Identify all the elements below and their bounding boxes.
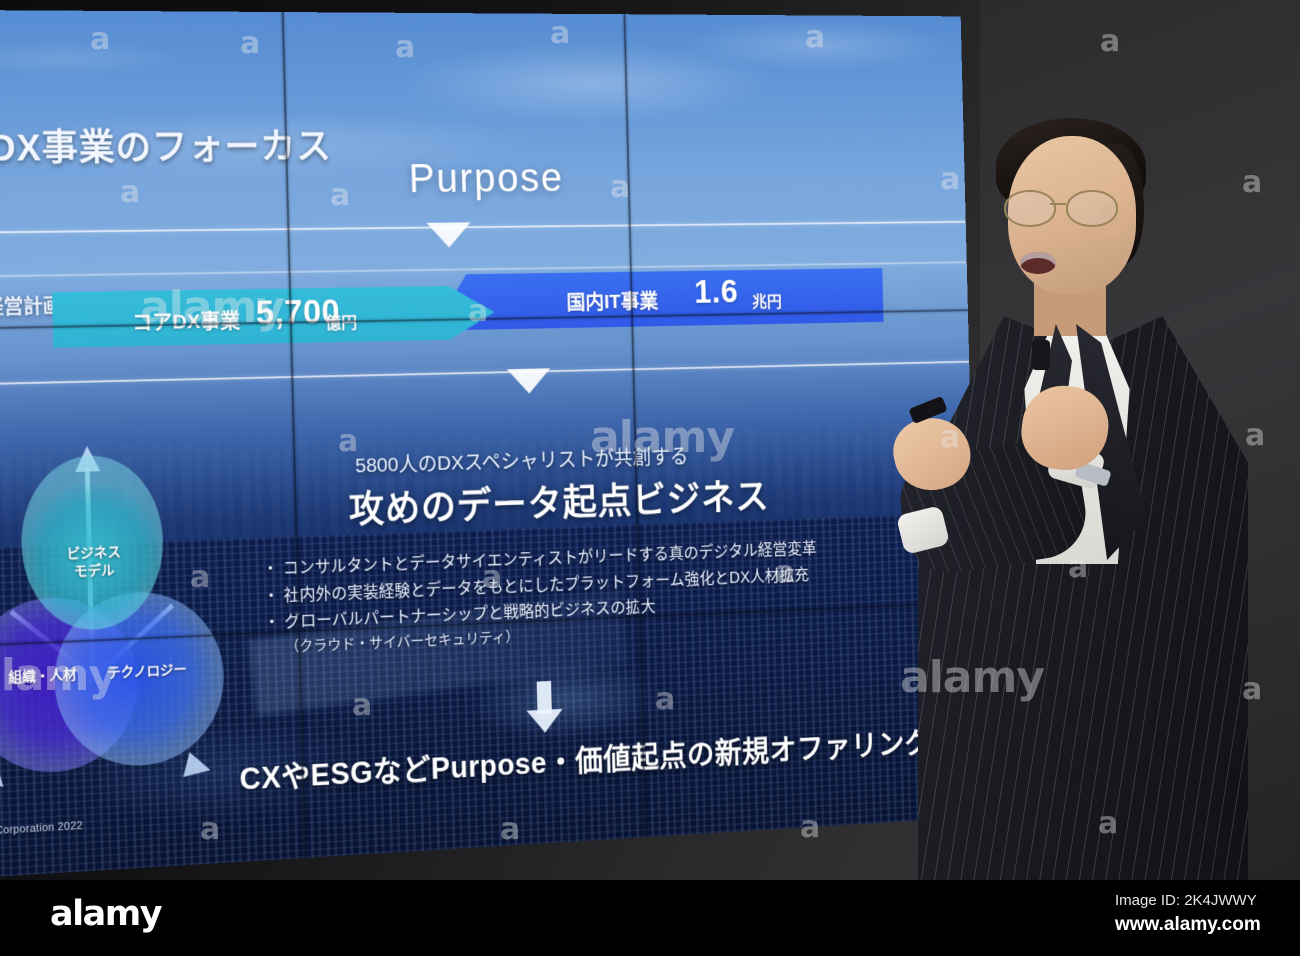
screenshot-root: コアDX事業のフォーカス Purpose 25中期経営計画 DX事業 国内IT事…	[0, 0, 1300, 956]
band-domestic-it-name: 国内IT事業	[566, 286, 658, 316]
presenter	[900, 118, 1300, 880]
band-core-dx-name: コアDX事業	[132, 305, 241, 336]
alamy-bottom-bar: alamy Image ID: 2K4JWWY www.alamy.com	[0, 880, 1300, 956]
divider-rule-low	[0, 361, 969, 386]
video-wall-screen: コアDX事業のフォーカス Purpose 25中期経営計画 DX事業 国内IT事…	[0, 10, 980, 880]
slide-title: コアDX事業のフォーカス	[0, 117, 332, 172]
band-domestic-it-number: 1.6	[694, 273, 739, 311]
venn-label-business-model: ビジネス モデル	[45, 543, 143, 581]
band-arrow-down	[507, 368, 551, 394]
slide-copyright: © NEC Corporation 2022	[0, 820, 83, 839]
alamy-logo: alamy	[50, 894, 161, 934]
venn-arrow-left-head	[0, 762, 4, 795]
purpose-heading: Purpose	[408, 155, 564, 202]
purpose-arrow-down	[427, 222, 472, 247]
alamy-url-label[interactable]: www.alamy.com	[1115, 914, 1261, 936]
slide-content: コアDX事業のフォーカス Purpose 25中期経営計画 DX事業 国内IT事…	[0, 10, 980, 880]
presenter-mouth	[1020, 252, 1056, 274]
glasses-icon	[1004, 190, 1120, 224]
video-wall: コアDX事業のフォーカス Purpose 25中期経営計画 DX事業 国内IT事…	[0, 10, 980, 880]
band-domestic-it-unit: 兆円	[752, 288, 782, 312]
venn-label-business-model-line2: モデル	[45, 560, 142, 581]
venn-arrow-right-head	[183, 752, 213, 783]
down-arrow-head	[527, 709, 564, 734]
venn-diagram: ビジネス モデル 組織・人材 テクノロジー	[0, 443, 219, 809]
divider-rule-top	[0, 221, 966, 234]
lapel-microphone-icon	[1032, 340, 1050, 370]
slide-bullet-list: ・ コンサルタントとデータサイエンティストがリードする真のデジタル経営変革 ・ …	[262, 536, 819, 657]
image-id-label: Image ID: 2K4JWWY	[1115, 892, 1257, 909]
slide-footer-line: CXやESGなどPurpose・価値起点の新規オファリング展開	[239, 715, 980, 798]
